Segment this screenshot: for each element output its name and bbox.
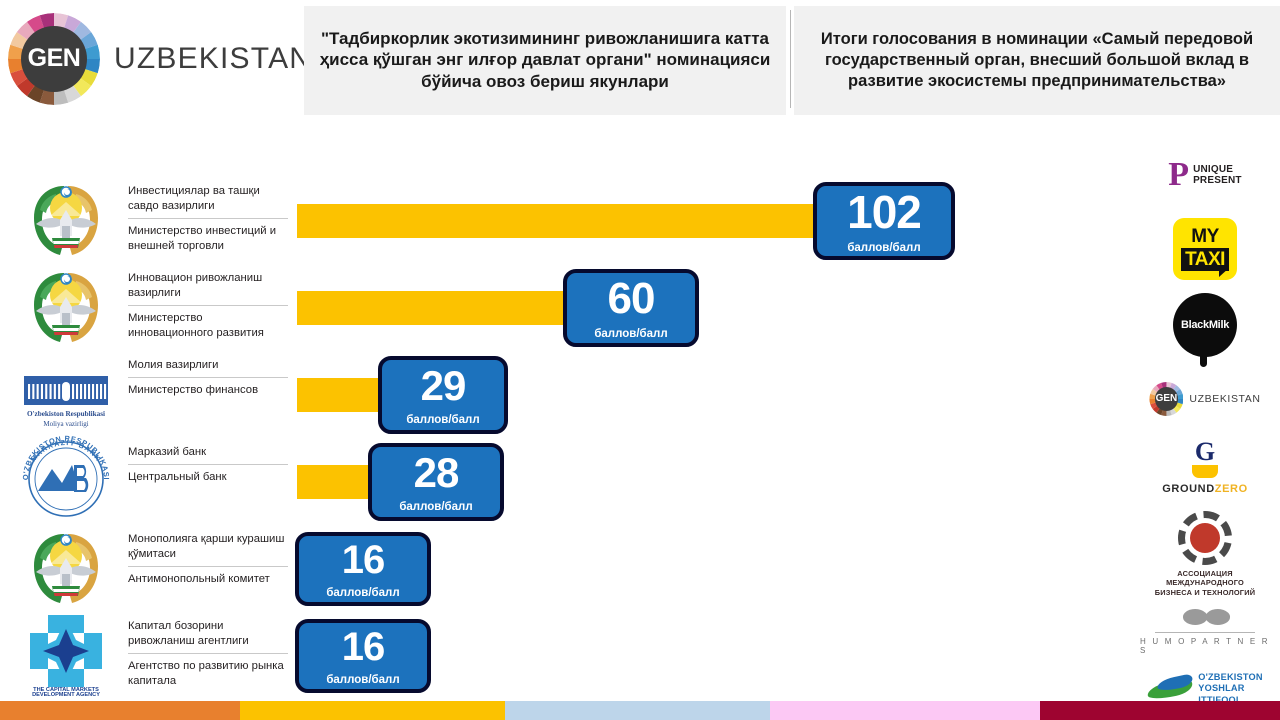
chart-row: O'ZBEKISTON RESPUBLIKASI MARKAZIY BANK М… [0,437,1130,521]
unique-present-icon: P [1168,161,1189,188]
gen-wheel-label: GEN [28,44,81,73]
footer-color-segment [0,701,240,720]
gen-wheel-small-icon: GEN [1149,382,1183,416]
unique-present-line1: UNIQUE [1193,164,1242,176]
vote-results-chart: Инвестициялар ва ташқи савдо вазирлигиМи… [0,130,1130,690]
footer-color-segment [1040,701,1280,720]
my-taxi-icon: MY TAXI [1173,218,1237,280]
organization-name-russian: Центральный банк [128,465,288,485]
score-unit: баллов/балл [326,587,399,599]
sponsor-black-milk: BlackMilk [1140,288,1270,370]
score-value: 29 [421,365,466,407]
sponsor-my-taxi: MY TAXI [1140,210,1270,288]
unique-present-line2: PRESENT [1193,175,1242,187]
ground-zero-icon: G [1195,441,1215,463]
chart-row: O'zbekiston Respublikasi Moliya vazirlig… [0,350,1130,434]
organization-name-russian: Министерство финансов [128,378,288,398]
sponsor-logos: P UNIQUE PRESENT MY TAXI BlackMilk GEN U… [1140,140,1270,716]
uzbekistan-coat-of-arms-icon [16,520,116,612]
score-badge: 28баллов/балл [368,443,504,521]
ground-zero-cup-icon [1192,465,1218,478]
sponsor-ground-zero: G GROUNDZERO [1140,428,1270,508]
organization-name-uzbek: Монополияга қарши курашиш қўмитаси [128,532,288,567]
header: GEN UZBEKISTAN "Тадбиркорлик экотизимини… [0,0,1280,118]
chart-row: THE CAPITAL MARKETS DEVELOPMENT AGENCY К… [0,611,1130,695]
organization-labels: Молия вазирлигиМинистерство финансов [128,358,288,398]
title-russian-panel: Итоги голосования в номинации «Самый пер… [794,6,1280,115]
organization-name-russian: Агентство по развитию рынка капитала [128,654,288,689]
uzbekistan-coat-of-arms-icon [16,520,116,612]
central-bank-logo-icon: O'ZBEKISTON RESPUBLIKASI MARKAZIY BANK [16,433,116,525]
sponsor-unique-present: P UNIQUE PRESENT [1140,140,1270,210]
ministry-of-finance-logo-icon: O'zbekiston Respublikasi Moliya vazirlig… [16,346,116,438]
title-uzbek-text: "Тадбиркорлик экотизимининг ривожланишиг… [304,28,786,94]
sponsor-humo-partners: ⬬⬬ H U M O P A R T N E R S [1140,600,1270,662]
my-taxi-line1: MY [1191,227,1219,246]
footer-color-segment [770,701,1040,720]
title-uzbek-panel: "Тадбиркорлик экотизимининг ривожланишиг… [304,6,786,115]
score-badge: 16баллов/балл [295,532,431,606]
footer-color-segment [505,701,770,720]
uzbekistan-coat-of-arms-icon [16,172,116,264]
svg-text:DEVELOPMENT AGENCY: DEVELOPMENT AGENCY [32,692,100,698]
score-unit: баллов/балл [594,328,667,340]
association-line1: АССОЦИАЦИЯ МЕЖДУНАРОДНОГО [1140,569,1270,588]
capital-markets-agency-logo-icon: THE CAPITAL MARKETS DEVELOPMENT AGENCY [16,607,116,699]
score-value: 60 [608,277,655,321]
organization-name-uzbek: Капитал бозорини ривожланиш агентлиги [128,619,288,654]
ground-zero-word2: ZERO [1215,483,1248,495]
footer-color-strip [0,701,1280,720]
association-gear-icon [1178,511,1232,565]
score-badge: 102баллов/балл [813,182,955,260]
score-badge: 29баллов/балл [378,356,508,434]
organization-labels: Монополияга қарши курашиш қўмитасиАнтимо… [128,532,288,587]
gen-wheel-icon: GEN [8,13,100,105]
score-value: 16 [342,627,385,667]
organization-name-russian: Антимонопольный комитет [128,567,288,587]
gen-small-label: GEN [1156,393,1178,404]
organization-labels: Инновацион ривожланиш вазирлигиМинистерс… [128,271,288,341]
score-unit: баллов/балл [406,414,479,426]
score-value: 102 [847,189,921,235]
yoshlar-line2: YOSHLAR [1198,683,1262,694]
score-unit: баллов/балл [847,242,920,254]
organization-name-russian: Министерство инвестиций и внешней торгов… [128,219,288,254]
humo-partners-label: H U M O P A R T N E R S [1140,637,1270,655]
organization-labels: Марказий банкЦентральный банк [128,445,288,485]
chart-row: Монополияга қарши курашиш қўмитасиАнтимо… [0,524,1130,608]
black-milk-label: BlackMilk [1181,319,1229,331]
organization-name-uzbek: Марказий банк [128,445,288,465]
score-value: 28 [414,452,459,494]
score-value: 16 [342,540,385,580]
brand-wordmark: UZBEKISTAN [114,42,312,76]
uzbekistan-coat-of-arms-icon [16,259,116,351]
association-line2: БИЗНЕСА И ТЕХНОЛОГИЙ [1140,588,1270,598]
chart-row: Инновацион ривожланиш вазирлигиМинистерс… [0,263,1130,347]
svg-text:O'zbekiston Respublikasi: O'zbekiston Respublikasi [27,410,105,418]
organization-labels: Капитал бозорини ривожланиш агентлигиАге… [128,619,288,689]
brand-logo: GEN UZBEKISTAN [0,0,300,118]
central-bank-logo-icon: O'ZBEKISTON RESPUBLIKASI MARKAZIY BANK [16,433,116,525]
organization-name-uzbek: Молия вазирлиги [128,358,288,378]
uzbekistan-coat-of-arms-icon [16,172,116,264]
black-milk-icon: BlackMilk [1173,293,1237,365]
ministry-of-finance-logo-icon: O'zbekiston Respublikasi Moliya vazirlig… [16,346,116,438]
ground-zero-word1: GROUND [1162,483,1215,495]
gen-uzbekistan-label: UZBEKISTAN [1189,393,1260,405]
organization-name-uzbek: Инвестициялар ва ташқи савдо вазирлиги [128,184,288,219]
uzbekistan-coat-of-arms-icon [16,259,116,351]
svg-text:Moliya vazirligi: Moliya vazirligi [43,420,88,428]
score-badge: 60баллов/балл [563,269,699,347]
title-russian-text: Итоги голосования в номинации «Самый пер… [794,29,1280,93]
score-unit: баллов/балл [399,501,472,513]
organization-labels: Инвестициялар ва ташқи савдо вазирлигиМи… [128,184,288,254]
organization-name-russian: Министерство инновационного развития [128,306,288,341]
score-unit: баллов/балл [326,674,399,686]
chart-row: Инвестициялар ва ташқи савдо вазирлигиМи… [0,176,1130,260]
sponsor-association: АССОЦИАЦИЯ МЕЖДУНАРОДНОГО БИЗНЕСА И ТЕХН… [1140,508,1270,600]
footer-color-segment [240,701,505,720]
yoshlar-line1: O'ZBEKISTON [1198,672,1262,683]
sponsor-gen-uzbekistan: GEN UZBEKISTAN [1140,370,1270,428]
score-badge: 16баллов/балл [295,619,431,693]
humo-wings-icon: ⬬⬬ [1182,607,1227,628]
organization-name-uzbek: Инновацион ривожланиш вазирлиги [128,271,288,306]
yoshlar-swoosh-icon [1147,674,1193,704]
header-divider [790,10,791,108]
capital-markets-agency-logo-icon: THE CAPITAL MARKETS DEVELOPMENT AGENCY [16,607,116,699]
